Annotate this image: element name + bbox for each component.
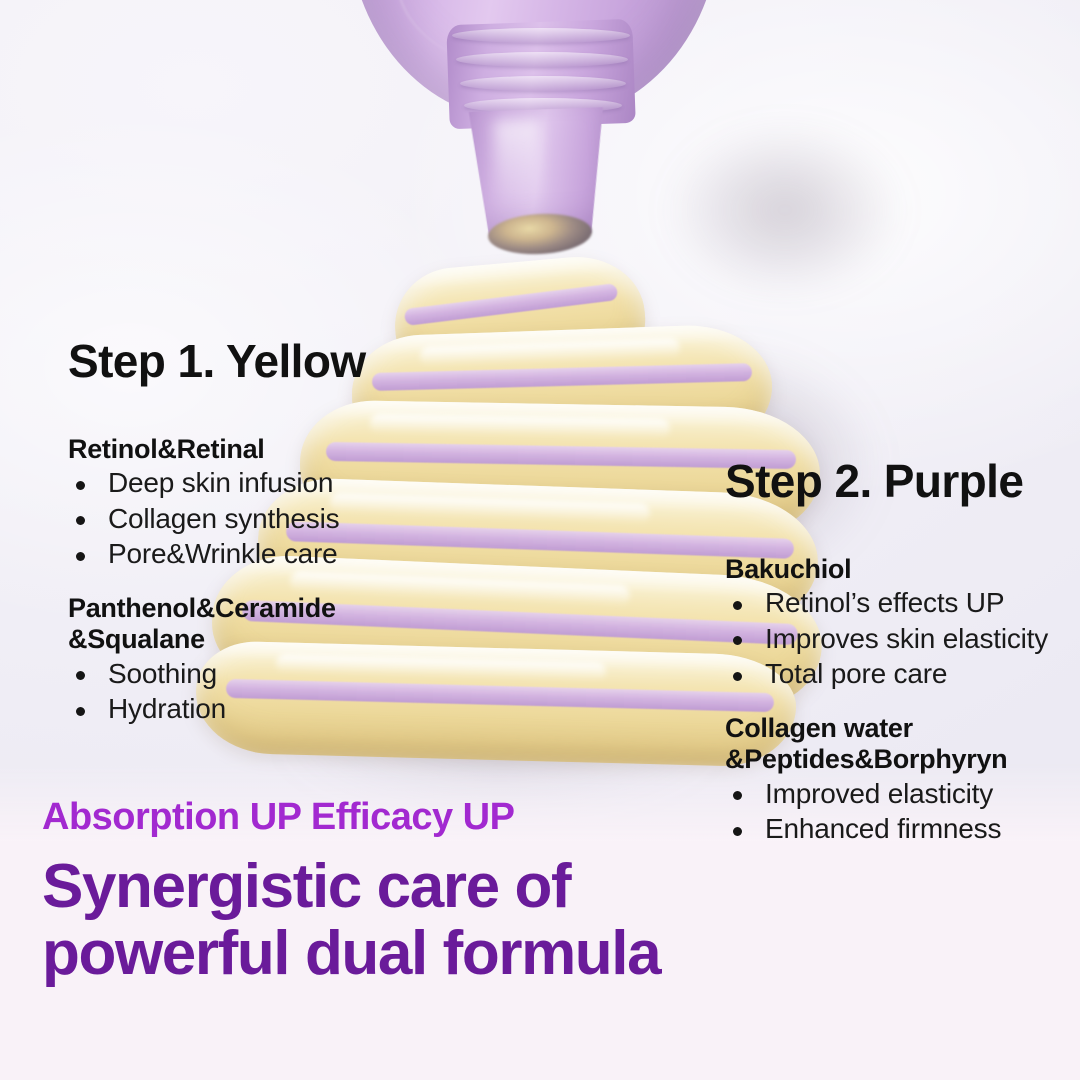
benefit-list: Soothing Hydration xyxy=(68,656,488,727)
list-item: Hydration xyxy=(68,691,488,726)
list-item: Improves skin elasticity xyxy=(725,621,1075,656)
list-item: Retinol’s effects UP xyxy=(725,585,1075,620)
benefit-list: Deep skin infusion Collagen synthesis Po… xyxy=(68,465,488,571)
ingredient-group: Retinol&Retinal Deep skin infusion Colla… xyxy=(68,434,488,571)
benefit-list: Retinol’s effects UP Improves skin elast… xyxy=(725,585,1075,691)
ingredient-heading: Retinol&Retinal xyxy=(68,434,488,465)
ingredient-heading: Collagen water &Peptides&Borphyryn xyxy=(725,713,1075,776)
list-item: Collagen synthesis xyxy=(68,501,488,536)
ad-canvas: Step 1. Yellow Retinol&Retinal Deep skin… xyxy=(0,0,1080,1080)
ingredient-heading-line-2: &Peptides&Borphyryn xyxy=(725,744,1075,775)
headline-block: Absorption UP Efficacy UP Synergistic ca… xyxy=(42,798,1042,988)
list-item: Total pore care xyxy=(725,656,1075,691)
list-item: Soothing xyxy=(68,656,488,691)
headline-line-2: powerful dual formula xyxy=(42,921,1042,988)
headline-main: Synergistic care of powerful dual formul… xyxy=(42,854,1042,988)
ingredient-group: Panthenol&Ceramide &Squalane Soothing Hy… xyxy=(68,593,488,726)
step-1-column: Step 1. Yellow Retinol&Retinal Deep skin… xyxy=(68,338,488,726)
step-1-title: Step 1. Yellow xyxy=(68,338,488,384)
ingredient-heading-line-1: Panthenol&Ceramide xyxy=(68,593,488,624)
ingredient-group: Bakuchiol Retinol’s effects UP Improves … xyxy=(725,554,1075,691)
step-2-column: Step 2. Purple Bakuchiol Retinol’s effec… xyxy=(725,458,1075,846)
list-item: Deep skin infusion xyxy=(68,465,488,500)
ingredient-heading-line-1: Collagen water xyxy=(725,713,1075,744)
ingredient-heading: Panthenol&Ceramide &Squalane xyxy=(68,593,488,656)
headline-kicker: Absorption UP Efficacy UP xyxy=(42,798,1042,838)
step-2-title: Step 2. Purple xyxy=(725,458,1075,504)
ingredient-heading: Bakuchiol xyxy=(725,554,1075,585)
list-item: Pore&Wrinkle care xyxy=(68,536,488,571)
headline-line-1: Synergistic care of xyxy=(42,854,1042,921)
ingredient-heading-line-2: &Squalane xyxy=(68,624,488,655)
